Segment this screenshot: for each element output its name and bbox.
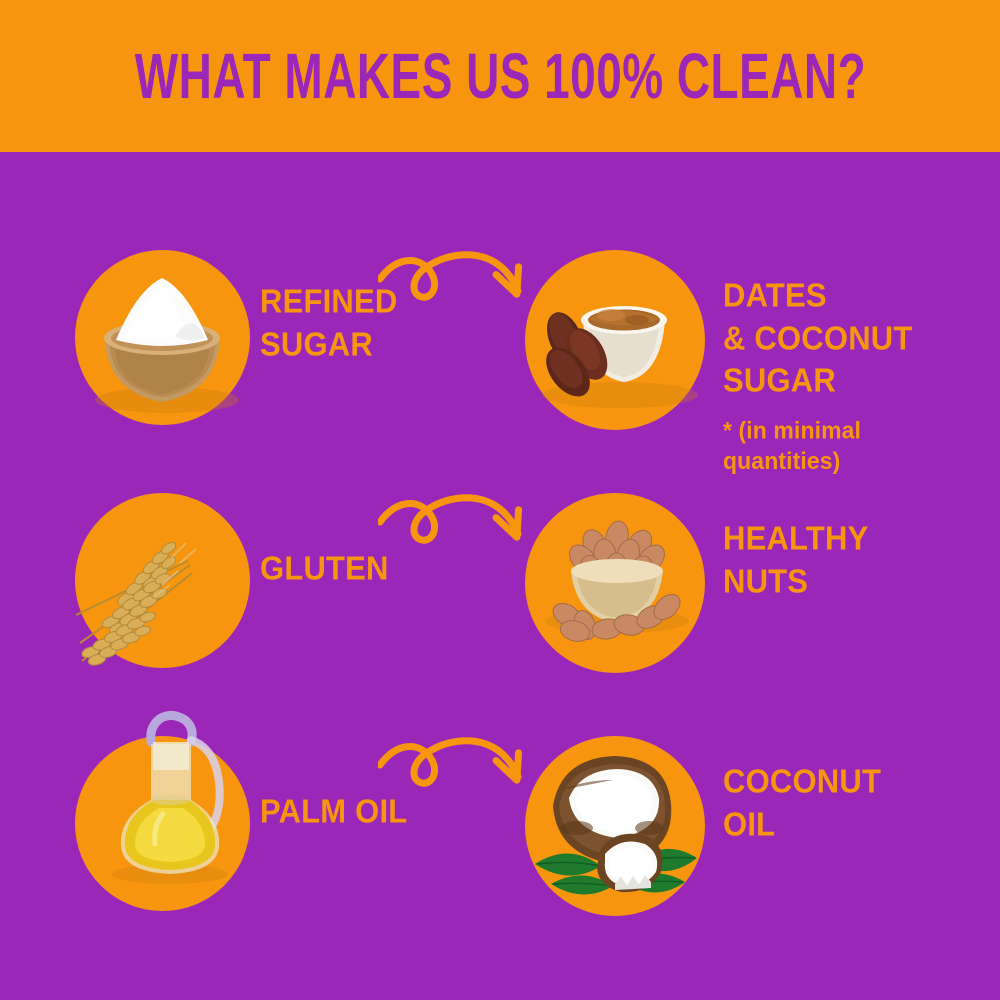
curved-loop-arrow-icon bbox=[378, 227, 543, 317]
comparison-row: REFINED SUGAR bbox=[0, 232, 1000, 467]
ingredient-label-to: COCONUT OIL bbox=[723, 760, 881, 846]
ingredient-circle-coconut-oil bbox=[525, 736, 705, 916]
page-title: WHAT MAKES US 100% CLEAN? bbox=[134, 39, 865, 113]
infographic-poster: WHAT MAKES US 100% CLEAN? REFINED SUGAR bbox=[0, 0, 1000, 1000]
ingredient-label-to: DATES & COCONUT SUGAR bbox=[723, 274, 913, 403]
header-banner: WHAT MAKES US 100% CLEAN? bbox=[0, 0, 1000, 152]
ingredient-label-from: REFINED SUGAR bbox=[260, 280, 397, 366]
oil-cruet-image bbox=[75, 736, 250, 911]
ingredient-label-to: HEALTHY NUTS bbox=[723, 517, 869, 603]
bowl-of-white-sugar-image bbox=[75, 250, 250, 425]
ingredient-label-from: GLUTEN bbox=[260, 547, 389, 590]
wheat-stalks-image bbox=[75, 493, 250, 668]
coconut-image bbox=[525, 736, 705, 916]
ingredient-circle-healthy-nuts bbox=[525, 493, 705, 673]
dates-and-coconut-sugar-image bbox=[525, 250, 705, 430]
bowl-of-almonds-image bbox=[525, 493, 705, 673]
ingredient-circle-dates-coconut-sugar bbox=[525, 250, 705, 430]
ingredient-circle-palm-oil bbox=[75, 736, 250, 911]
comparison-row: PALM OIL bbox=[0, 718, 1000, 953]
curved-loop-arrow-icon bbox=[378, 713, 543, 803]
ingredient-footnote: * (in minimal quantities) bbox=[723, 415, 861, 476]
ingredient-circle-gluten bbox=[75, 493, 250, 668]
curved-loop-arrow-icon bbox=[378, 470, 543, 560]
ingredient-circle-refined-sugar bbox=[75, 250, 250, 425]
comparison-row: GLUTEN bbox=[0, 475, 1000, 710]
